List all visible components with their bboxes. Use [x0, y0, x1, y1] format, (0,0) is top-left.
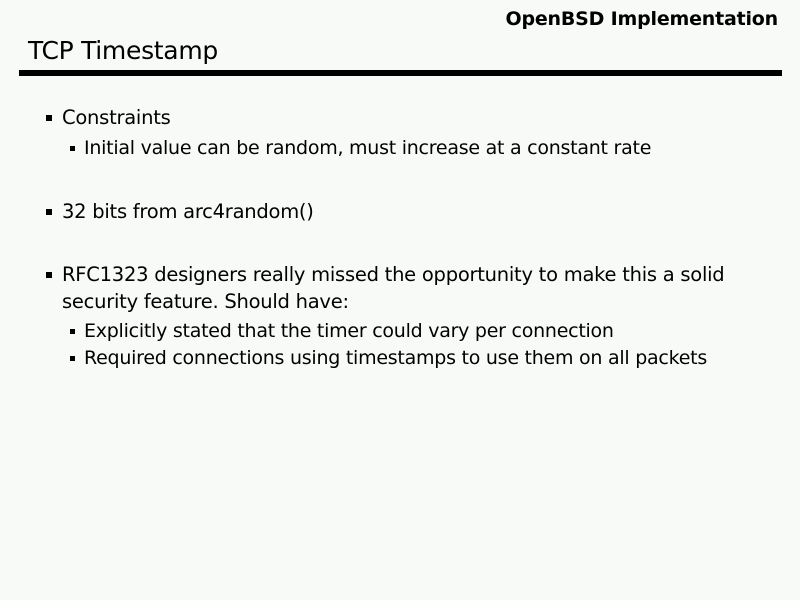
- list-item-label: Initial value can be random, must increa…: [84, 137, 651, 159]
- list-item-label: Constraints: [62, 106, 171, 129]
- content-group-rfc: RFC1323 designers really missed the oppo…: [46, 261, 800, 372]
- bullet-list-level1: 32 bits from arc4random(): [46, 198, 800, 225]
- list-item-label: Required connections using timestamps to…: [84, 347, 707, 369]
- list-item: RFC1323 designers really missed the oppo…: [46, 261, 800, 315]
- page-title: TCP Timestamp: [28, 36, 218, 65]
- list-item-label: Explicitly stated that the timer could v…: [84, 320, 614, 342]
- content-group-constraints: Constraints Initial value can be random,…: [46, 104, 800, 162]
- bullet-list-level1: RFC1323 designers really missed the oppo…: [46, 261, 800, 315]
- bullet-list-level2: Initial value can be random, must increa…: [69, 135, 800, 162]
- bullet-list-level1: Constraints: [46, 104, 800, 131]
- header-subject-label: OpenBSD Implementation: [506, 8, 778, 30]
- list-item: 32 bits from arc4random(): [46, 198, 800, 225]
- square-bullet-icon: [46, 115, 52, 121]
- square-bullet-icon: [70, 329, 75, 334]
- bullet-list-level2: Explicitly stated that the timer could v…: [69, 318, 800, 372]
- slide: OpenBSD Implementation TCP Timestamp Con…: [0, 0, 800, 600]
- slide-body: Constraints Initial value can be random,…: [0, 104, 800, 372]
- list-item: Constraints: [46, 104, 800, 131]
- list-item: Explicitly stated that the timer could v…: [69, 318, 800, 345]
- content-group-bits: 32 bits from arc4random(): [46, 198, 800, 225]
- title-divider: [19, 70, 782, 76]
- list-item-label: RFC1323 designers really missed the oppo…: [62, 263, 724, 313]
- list-item: Required connections using timestamps to…: [69, 345, 800, 372]
- square-bullet-icon: [46, 209, 52, 215]
- list-item-label: 32 bits from arc4random(): [62, 200, 314, 223]
- square-bullet-icon: [46, 272, 52, 278]
- square-bullet-icon: [70, 356, 75, 361]
- square-bullet-icon: [70, 146, 75, 151]
- list-item: Initial value can be random, must increa…: [69, 135, 800, 162]
